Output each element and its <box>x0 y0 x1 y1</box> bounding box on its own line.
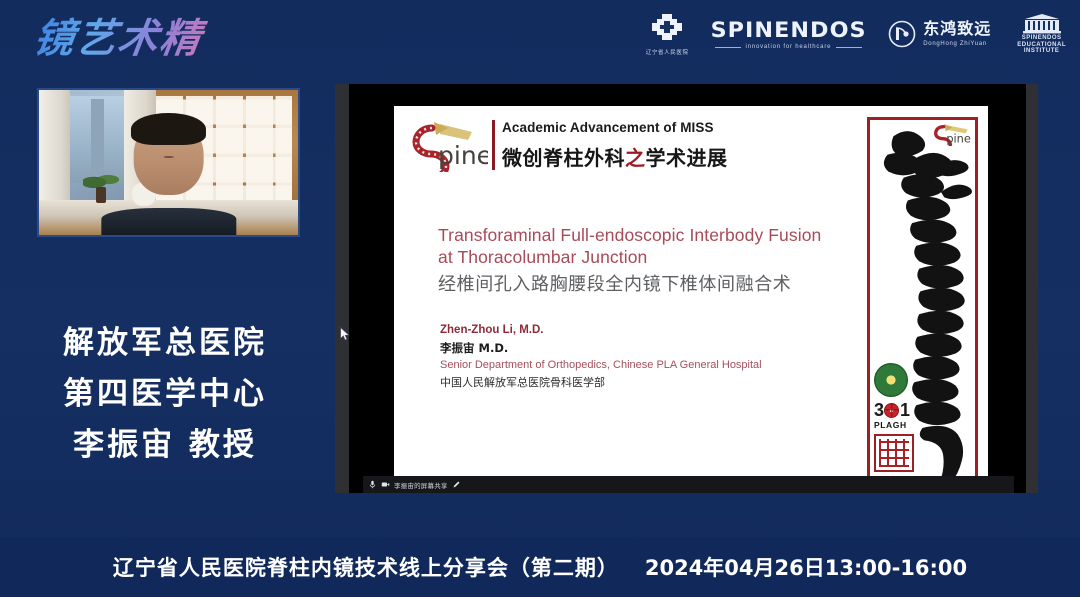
logo-spinendos-educational-institute: SPINENDOS EDUCATIONAL INSTITUTE <box>1017 13 1066 56</box>
brand-wordmark-text: 镜艺术精 <box>30 8 299 70</box>
institute-line-2: EDUCATIONAL <box>1017 42 1066 49</box>
logo-donghong-zhiyuan: 东鸿致远 DongHong ZhiYuan <box>888 20 991 48</box>
plagh-digit-right: 1 <box>900 401 909 419</box>
screen-share-toolbar[interactable]: 李振宙的屏幕共享 <box>363 476 1014 493</box>
red-seal-badge <box>874 434 914 472</box>
slide-spine-panel: pine 3 1 PLAGH <box>867 117 978 485</box>
logo-donghong-english: DongHong ZhiYuan <box>923 41 991 47</box>
institute-line-3: INSTITUTE <box>1024 48 1060 55</box>
slide-header: pine Academic Advancement of MISS 微创脊柱外科… <box>404 118 870 176</box>
event-footer-banner: 辽宁省人民医院脊柱内镜技术线上分享会（第二期） 2024年04月26日13:00… <box>0 537 1080 597</box>
screen-share-region[interactable]: pine Academic Advancement of MISS 微创脊柱外科… <box>335 84 1038 493</box>
logo-spinendos-word: SPINENDOS <box>710 18 866 42</box>
camera-icon[interactable] <box>381 480 390 489</box>
slide-title-en-line-1: Transforaminal Full-endoscopic Interbody… <box>438 224 853 246</box>
logo-liaoning-hospital-caption: 辽宁省人民医院 <box>646 48 689 56</box>
slide-header-english: Academic Advancement of MISS <box>502 120 714 135</box>
footer-event-title: 辽宁省人民医院脊柱内镜技术线上分享会（第二期） <box>113 552 619 582</box>
svg-text:pine: pine <box>946 132 971 146</box>
slide-author-block: Zhen-Zhou Li, M.D. 李振宙 M.D. Senior Depar… <box>440 322 858 392</box>
svg-text:pine: pine <box>438 141 488 170</box>
plagh-target-icon <box>884 403 899 418</box>
slide-header-chinese-before: 微创脊柱外科 <box>502 146 625 170</box>
speaker-webcam-tile[interactable] <box>37 88 300 237</box>
microphone-icon[interactable] <box>368 480 377 489</box>
mouse-cursor-icon <box>340 327 350 341</box>
logo-spinendos-tagline-text: innovation for healthcare <box>746 44 832 50</box>
slide-title-chinese: 经椎间孔入路胸腰段全内镜下椎体间融合术 <box>438 271 853 298</box>
speaker-caption-line-2: 第四医学中心 <box>0 369 330 420</box>
301-plagh-badge: 3 1 PLAGH <box>874 401 916 430</box>
slide-header-chinese-after: 学术进展 <box>646 146 728 170</box>
author-affiliation-english: Senior Department of Orthopedics, Chines… <box>440 357 858 374</box>
slide-title: Transforaminal Full-endoscopic Interbody… <box>438 224 853 298</box>
screen-share-toolbar-label: 李振宙的屏幕共享 <box>394 480 448 490</box>
partner-logo-strip: 辽宁省人民医院 SPINENDOS innovation for healthc… <box>646 6 1066 62</box>
hospital-cross-icon <box>649 12 685 46</box>
spine-logo-icon: pine <box>404 118 488 172</box>
slide-title-en-line-2: at Thoracolumbar Junction <box>438 246 853 268</box>
footer-event-date: 2024年04月26日13:00-16:00 <box>645 552 967 582</box>
brand-wordmark: 镜艺术精 <box>34 8 294 70</box>
speaker-avatar <box>101 110 236 235</box>
logo-donghong-chinese: 东鸿致远 <box>923 22 991 38</box>
logo-spinendos: SPINENDOS innovation for healthcare <box>715 18 863 50</box>
presentation-stage: 镜艺术精 辽宁省人民医院 SPINENDOS innovation for he… <box>0 0 1080 597</box>
speaker-caption: 解放军总医院 第四医学中心 李振宙 教授 <box>0 318 330 471</box>
logo-spinendos-tagline: innovation for healthcare <box>715 44 863 50</box>
slide-header-chinese: 微创脊柱外科之学术进展 <box>502 142 728 171</box>
screen-share-canvas: pine Academic Advancement of MISS 微创脊柱外科… <box>349 84 1026 493</box>
donghong-circle-icon <box>888 20 916 48</box>
pencil-icon[interactable] <box>452 480 461 489</box>
slide-header-divider <box>492 120 495 170</box>
panel-badge-group: 3 1 PLAGH <box>874 363 916 476</box>
institute-building-icon <box>1021 13 1063 35</box>
institute-line-1: SPINENDOS <box>1022 35 1062 42</box>
speaker-caption-line-1: 解放军总医院 <box>0 318 330 369</box>
logo-liaoning-hospital: 辽宁省人民医院 <box>646 12 689 56</box>
pla-emblem-badge <box>874 363 908 397</box>
speaker-caption-line-3: 李振宙 教授 <box>0 420 330 471</box>
author-name-english: Zhen-Zhou Li, M.D. <box>440 322 858 339</box>
slide-header-chinese-accent: 之 <box>625 146 646 170</box>
plagh-caption: PLAGH <box>874 420 916 430</box>
panel-spine-logo-icon: pine <box>929 122 973 146</box>
webcam-video-frame <box>39 90 298 235</box>
plagh-digit-left: 3 <box>874 401 883 419</box>
author-name-chinese: 李振宙 M.D. <box>440 339 858 357</box>
presentation-slide: pine Academic Advancement of MISS 微创脊柱外科… <box>394 106 988 489</box>
author-affiliation-chinese: 中国人民解放军总医院骨科医学部 <box>440 374 858 392</box>
